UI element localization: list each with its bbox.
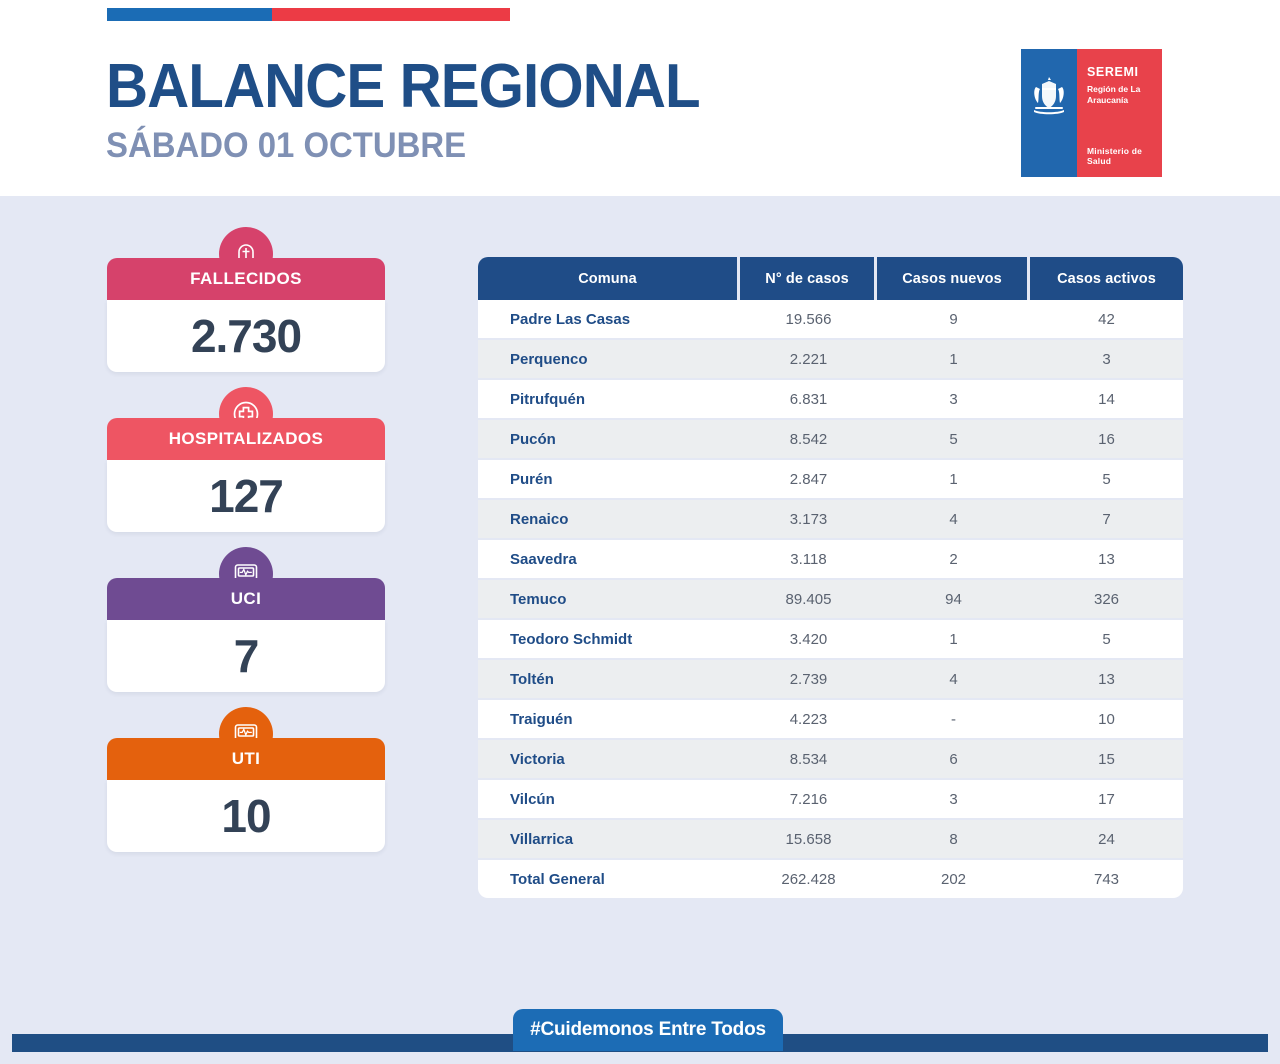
- cell-activos: 16: [1030, 420, 1183, 460]
- stat-card-header: UTI: [107, 738, 385, 780]
- seremi-logo: SEREMI Región de La Araucanía Ministerio…: [1021, 49, 1162, 177]
- stat-card-value: 127: [209, 469, 283, 523]
- cell-activos: 10: [1030, 700, 1183, 740]
- cell-activos: 24: [1030, 820, 1183, 860]
- cell-casos: 2.739: [740, 660, 877, 700]
- table-row: Purén2.84715: [478, 460, 1183, 500]
- chilean-flag-bar: [107, 8, 510, 21]
- cell-nuevos: 3: [877, 380, 1030, 420]
- flag-red-segment: [272, 8, 510, 21]
- table-row: Victoria8.534615: [478, 740, 1183, 780]
- cell-comuna: Saavedra: [478, 540, 740, 580]
- stat-card-uci: UCI 7: [107, 578, 385, 692]
- stat-card-value: 2.730: [191, 309, 301, 363]
- stat-card-hospitalizados: HOSPITALIZADOS 127: [107, 418, 385, 532]
- cell-nuevos: 1: [877, 620, 1030, 660]
- cell-activos: 743: [1030, 860, 1183, 898]
- stat-card-uti: UTI 10: [107, 738, 385, 852]
- page-title: BALANCE REGIONAL: [106, 56, 700, 118]
- flag-blue-segment: [107, 8, 272, 21]
- cell-nuevos: 94: [877, 580, 1030, 620]
- cell-nuevos: -: [877, 700, 1030, 740]
- cell-comuna: Villarrica: [478, 820, 740, 860]
- table-row: Traiguén4.223-10: [478, 700, 1183, 740]
- cell-activos: 42: [1030, 300, 1183, 340]
- cell-nuevos: 202: [877, 860, 1030, 898]
- table-body: Padre Las Casas19.566942Perquenco2.22113…: [478, 300, 1183, 898]
- cell-comuna: Pucón: [478, 420, 740, 460]
- table-header-row: Comuna N° de casos Casos nuevos Casos ac…: [478, 257, 1183, 300]
- cell-nuevos: 5: [877, 420, 1030, 460]
- column-header-casos[interactable]: N° de casos: [740, 257, 877, 300]
- column-header-comuna[interactable]: Comuna: [478, 257, 740, 300]
- comunas-table: Comuna N° de casos Casos nuevos Casos ac…: [478, 257, 1183, 898]
- cell-casos: 89.405: [740, 580, 877, 620]
- comunas-table-wrapper: Comuna N° de casos Casos nuevos Casos ac…: [478, 257, 1183, 898]
- table-row: Pitrufquén6.831314: [478, 380, 1183, 420]
- cell-activos: 13: [1030, 660, 1183, 700]
- cell-activos: 13: [1030, 540, 1183, 580]
- logo-ministry-text: Ministerio de Salud: [1087, 146, 1162, 166]
- stat-card-body: 7: [107, 620, 385, 692]
- logo-seremi-text: SEREMI: [1087, 65, 1139, 79]
- cell-comuna: Victoria: [478, 740, 740, 780]
- stat-card-label: HOSPITALIZADOS: [169, 429, 324, 449]
- cell-nuevos: 1: [877, 460, 1030, 500]
- stat-card-body: 2.730: [107, 300, 385, 372]
- column-header-nuevos[interactable]: Casos nuevos: [877, 257, 1030, 300]
- cell-nuevos: 4: [877, 500, 1030, 540]
- column-header-activos[interactable]: Casos activos: [1030, 257, 1183, 300]
- cell-casos: 8.542: [740, 420, 877, 460]
- stat-card-header: UCI: [107, 578, 385, 620]
- cell-activos: 14: [1030, 380, 1183, 420]
- stat-cards: FALLECIDOS 2.730 HOSPITALIZADOS 127: [107, 258, 385, 852]
- table-row: Pucón8.542516: [478, 420, 1183, 460]
- table-row: Villarrica15.658824: [478, 820, 1183, 860]
- cell-activos: 7: [1030, 500, 1183, 540]
- cell-comuna: Perquenco: [478, 340, 740, 380]
- stat-card-label: UCI: [231, 589, 261, 609]
- logo-region-text: Región de La Araucanía: [1087, 84, 1157, 105]
- hashtag-banner: #Cuidemonos Entre Todos: [513, 1009, 783, 1051]
- cell-comuna: Pitrufquén: [478, 380, 740, 420]
- stat-card-header: HOSPITALIZADOS: [107, 418, 385, 460]
- table-row: Teodoro Schmidt3.42015: [478, 620, 1183, 660]
- stat-card-label: UTI: [232, 749, 261, 769]
- logo-blue-panel: [1021, 49, 1077, 177]
- stat-card-body: 127: [107, 460, 385, 532]
- cell-comuna: Total General: [478, 860, 740, 898]
- table-row: Saavedra3.118213: [478, 540, 1183, 580]
- cell-casos: 7.216: [740, 780, 877, 820]
- table-head: Comuna N° de casos Casos nuevos Casos ac…: [478, 257, 1183, 300]
- table-row: Perquenco2.22113: [478, 340, 1183, 380]
- cell-comuna: Traiguén: [478, 700, 740, 740]
- hashtag-text: #Cuidemonos Entre Todos: [530, 1019, 766, 1041]
- page-header: BALANCE REGIONAL SÁBADO 01 OCTUBRE SEREM…: [0, 0, 1280, 196]
- table-row: Padre Las Casas19.566942: [478, 300, 1183, 340]
- cell-casos: 19.566: [740, 300, 877, 340]
- table-row: Vilcún7.216317: [478, 780, 1183, 820]
- cell-activos: 3: [1030, 340, 1183, 380]
- cell-nuevos: 6: [877, 740, 1030, 780]
- stat-card-fallecidos: FALLECIDOS 2.730: [107, 258, 385, 372]
- cell-comuna: Teodoro Schmidt: [478, 620, 740, 660]
- cell-casos: 6.831: [740, 380, 877, 420]
- cell-casos: 262.428: [740, 860, 877, 898]
- cell-comuna: Purén: [478, 460, 740, 500]
- cell-activos: 326: [1030, 580, 1183, 620]
- cell-casos: 15.658: [740, 820, 877, 860]
- logo-red-panel: SEREMI Región de La Araucanía Ministerio…: [1077, 49, 1162, 177]
- cell-comuna: Padre Las Casas: [478, 300, 740, 340]
- cell-casos: 3.118: [740, 540, 877, 580]
- table-row: Toltén2.739413: [478, 660, 1183, 700]
- cell-comuna: Vilcún: [478, 780, 740, 820]
- page-subtitle: SÁBADO 01 OCTUBRE: [106, 128, 700, 163]
- chile-coat-of-arms-icon: [1032, 77, 1066, 115]
- cell-casos: 3.420: [740, 620, 877, 660]
- cell-casos: 8.534: [740, 740, 877, 780]
- table-row: Temuco89.40594326: [478, 580, 1183, 620]
- cell-comuna: Temuco: [478, 580, 740, 620]
- cell-nuevos: 1: [877, 340, 1030, 380]
- cell-activos: 17: [1030, 780, 1183, 820]
- cell-nuevos: 3: [877, 780, 1030, 820]
- cell-nuevos: 9: [877, 300, 1030, 340]
- title-block: BALANCE REGIONAL SÁBADO 01 OCTUBRE: [106, 56, 738, 163]
- table-row: Renaico3.17347: [478, 500, 1183, 540]
- stat-card-header: FALLECIDOS: [107, 258, 385, 300]
- cell-activos: 5: [1030, 620, 1183, 660]
- stat-card-value: 7: [234, 629, 259, 683]
- cell-casos: 2.221: [740, 340, 877, 380]
- cell-nuevos: 2: [877, 540, 1030, 580]
- cell-comuna: Renaico: [478, 500, 740, 540]
- stat-card-label: FALLECIDOS: [190, 269, 302, 289]
- table-row: Total General262.428202743: [478, 860, 1183, 898]
- cell-casos: 4.223: [740, 700, 877, 740]
- cell-activos: 15: [1030, 740, 1183, 780]
- cell-comuna: Toltén: [478, 660, 740, 700]
- stat-card-body: 10: [107, 780, 385, 852]
- cell-nuevos: 8: [877, 820, 1030, 860]
- cell-activos: 5: [1030, 460, 1183, 500]
- cell-casos: 2.847: [740, 460, 877, 500]
- stat-card-value: 10: [221, 789, 270, 843]
- cell-nuevos: 4: [877, 660, 1030, 700]
- cell-casos: 3.173: [740, 500, 877, 540]
